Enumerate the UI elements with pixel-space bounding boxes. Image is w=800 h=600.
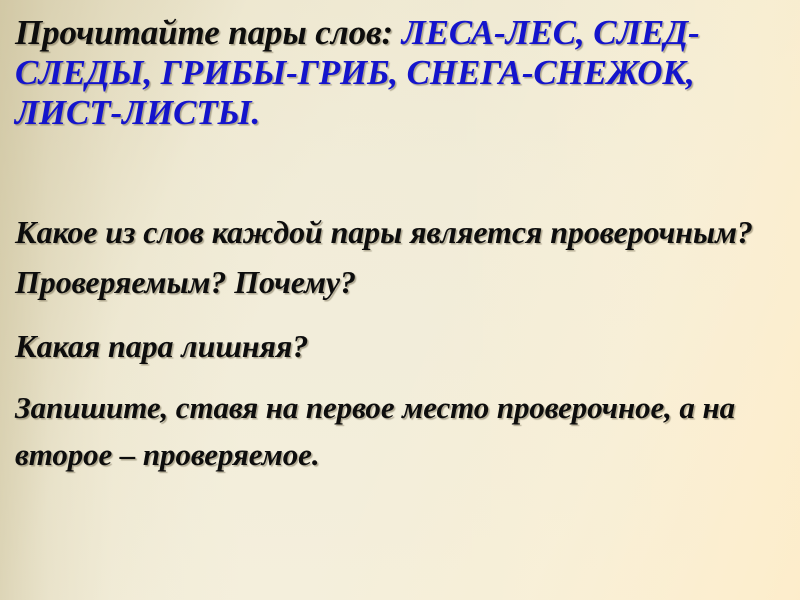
instruction-read-word-pairs: Прочитайте пары слов: ЛЕСА-ЛЕС, СЛЕД-СЛЕ… [15, 0, 782, 133]
question-which-pair-is-extra: Какая пара лишняя? [15, 307, 782, 371]
slide-canvas: Прочитайте пары слов: ЛЕСА-ЛЕС, СЛЕД-СЛЕ… [0, 0, 800, 600]
question-which-word-is-test-word: Какое из слов каждой пары является прове… [15, 207, 782, 307]
task-write-down-order: Запишите, ставя на первое место провероч… [15, 371, 782, 478]
instruction-prefix-text: Прочитайте пары слов: [15, 13, 402, 52]
paragraph-spacer [15, 133, 782, 207]
slide-text-body: Прочитайте пары слов: ЛЕСА-ЛЕС, СЛЕД-СЛЕ… [0, 0, 800, 478]
